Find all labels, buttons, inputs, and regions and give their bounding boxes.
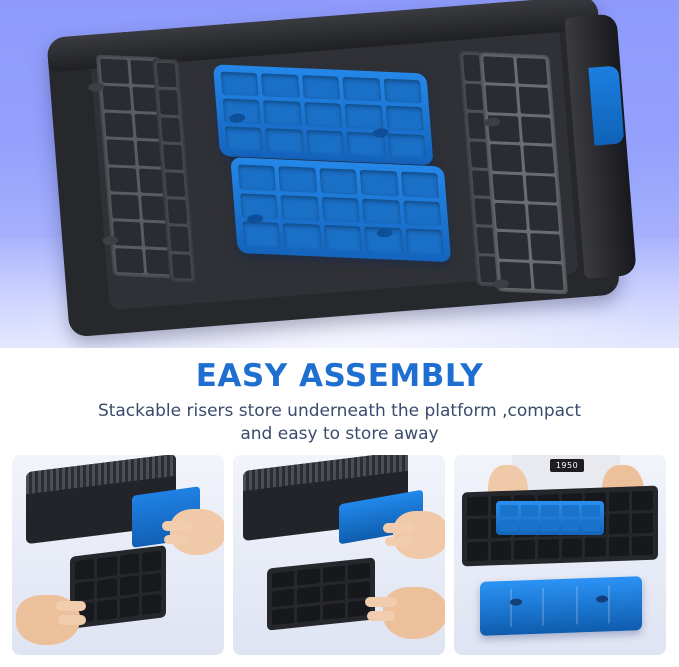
- panel-step-one: [12, 455, 224, 655]
- riser-knob: [510, 598, 522, 605]
- riser-knob: [596, 595, 608, 602]
- hero-product-photo: [0, 0, 679, 348]
- platform-blue-accent: [588, 66, 624, 146]
- step-platform-assembly: [24, 0, 648, 348]
- finger: [58, 615, 86, 625]
- product-infographic: EASY ASSEMBLY Stackable risers store und…: [0, 0, 679, 667]
- finger: [367, 611, 395, 621]
- page-title: EASY ASSEMBLY: [0, 348, 679, 394]
- finger: [385, 537, 411, 546]
- page-subtitle: Stackable risers store underneath the pl…: [60, 400, 620, 446]
- finger: [365, 597, 397, 607]
- finger: [162, 521, 192, 531]
- black-riser-block: [267, 557, 375, 630]
- page-subtitle-line-1: Stackable risers store underneath the pl…: [98, 401, 581, 421]
- blue-riser-lower: [230, 157, 451, 262]
- blue-riser-upper: [213, 64, 434, 165]
- hand-right: [393, 511, 445, 559]
- assembly-step-gallery: 1950: [12, 455, 667, 655]
- finger: [56, 601, 86, 611]
- headline-block: EASY ASSEMBLY Stackable risers store und…: [0, 348, 679, 448]
- finger: [383, 523, 413, 533]
- panel-step-two: [233, 455, 445, 655]
- blue-riser-inserted: [496, 501, 604, 535]
- panel-step-three: 1950: [454, 455, 666, 655]
- finger: [164, 535, 190, 544]
- blue-riser-bottom-view: [480, 576, 642, 636]
- shirt-tag: 1950: [550, 459, 584, 472]
- hand-right: [170, 509, 224, 555]
- page-subtitle-line-2: and easy to store away: [240, 424, 438, 444]
